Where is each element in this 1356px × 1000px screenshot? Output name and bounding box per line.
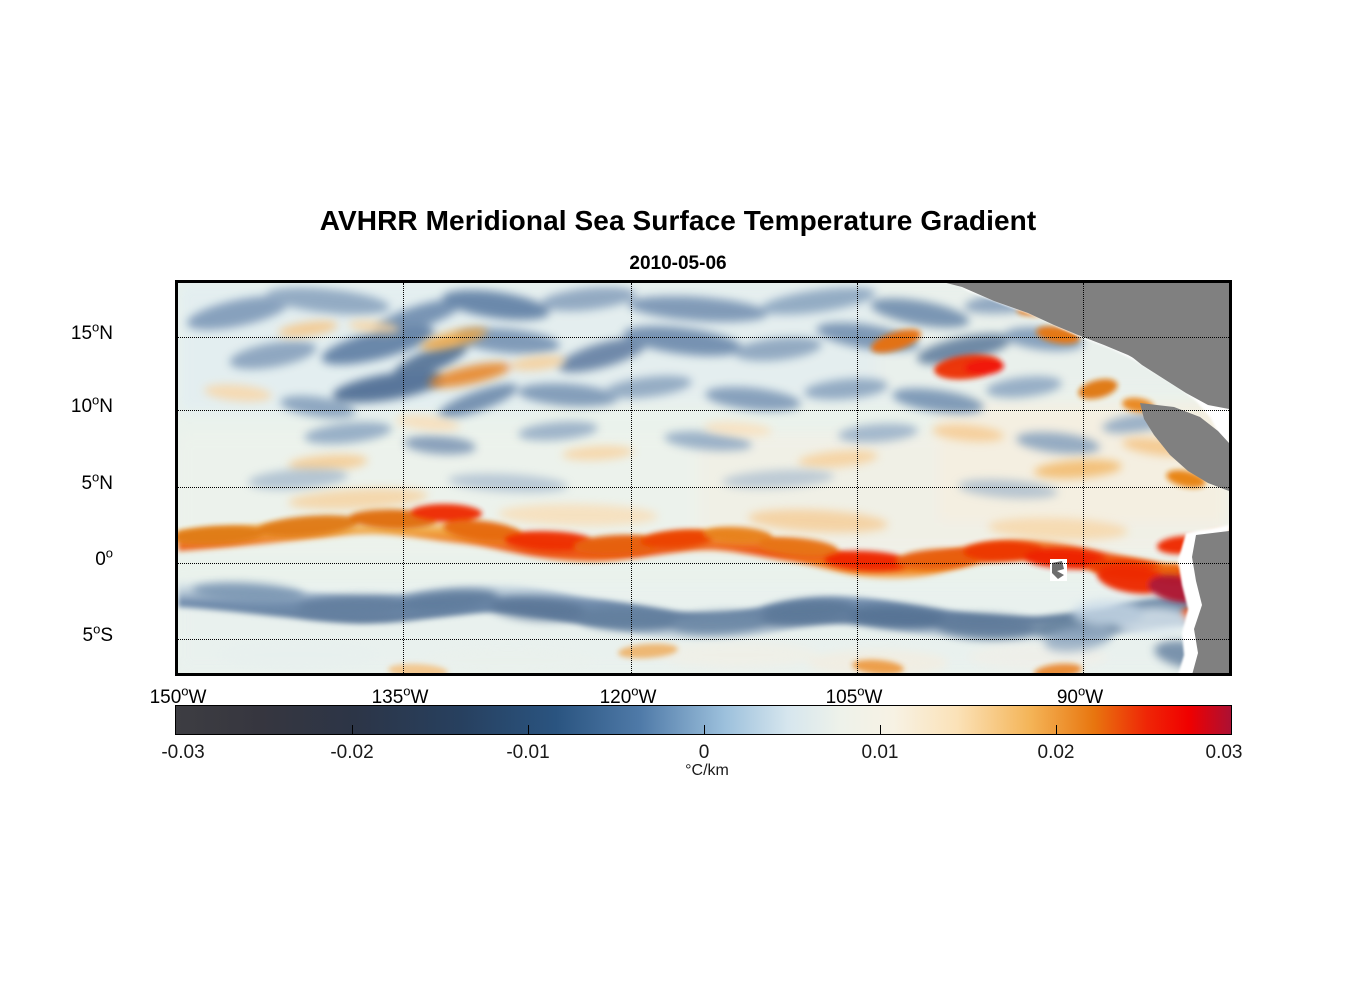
tick-lon-135 [403,673,406,676]
tick-lon-90-top [1083,280,1086,283]
ytick-label-5s: 5oS [83,625,114,647]
map-axes[interactable] [175,280,1232,676]
colorbar-label-1: -0.02 [330,742,373,764]
tick-lat-0-right [1229,563,1232,566]
tick-lat-15 [175,337,178,340]
tick-lat-m5 [175,639,178,642]
colorbar-label-4: 0.01 [862,742,899,764]
colorbar-label-5: 0.02 [1038,742,1075,764]
ytick-label-0: 0o [95,549,113,571]
tick-lon-105 [857,673,860,676]
colorbar-unit-label: °C/km [0,762,1356,780]
sst-gradient-heatmap [178,283,1229,673]
tick-lat-10 [175,410,178,413]
colorbar-label-0: -0.03 [161,742,204,764]
tick-lon-135-top [403,280,406,283]
ytick-label-10n: 10oN [71,396,113,418]
figure-canvas: AVHRR Meridional Sea Surface Temperature… [0,0,1356,1000]
tick-lat-0 [175,563,178,566]
tick-lon-120-top [631,280,634,283]
tick-lon-90 [1083,673,1086,676]
colorbar[interactable] [175,705,1232,735]
colorbar-tick-2 [528,725,529,734]
colorbar-label-6: 0.03 [1206,742,1243,764]
figure-subtitle: 2010-05-06 [0,253,1356,275]
colorbar-tick-5 [1056,725,1057,734]
tick-lon-120 [631,673,634,676]
colorbar-tick-3 [704,725,705,734]
colorbar-tick-1 [352,725,353,734]
tick-lat-m5-right [1229,639,1232,642]
land-galapagos-islands [1050,559,1067,581]
colorbar-tick-4 [880,725,881,734]
ytick-label-5n: 5oN [81,473,113,495]
tick-lon-105-top [857,280,860,283]
tick-lat-15-right [1229,337,1232,340]
tick-lat-5 [175,487,178,490]
colorbar-label-2: -0.01 [506,742,549,764]
page-title: AVHRR Meridional Sea Surface Temperature… [0,205,1356,237]
ytick-label-15n: 15oN [71,323,113,345]
colorbar-label-3: 0 [699,742,710,764]
tick-lat-5-right [1229,487,1232,490]
tick-lat-10-right [1229,410,1232,413]
